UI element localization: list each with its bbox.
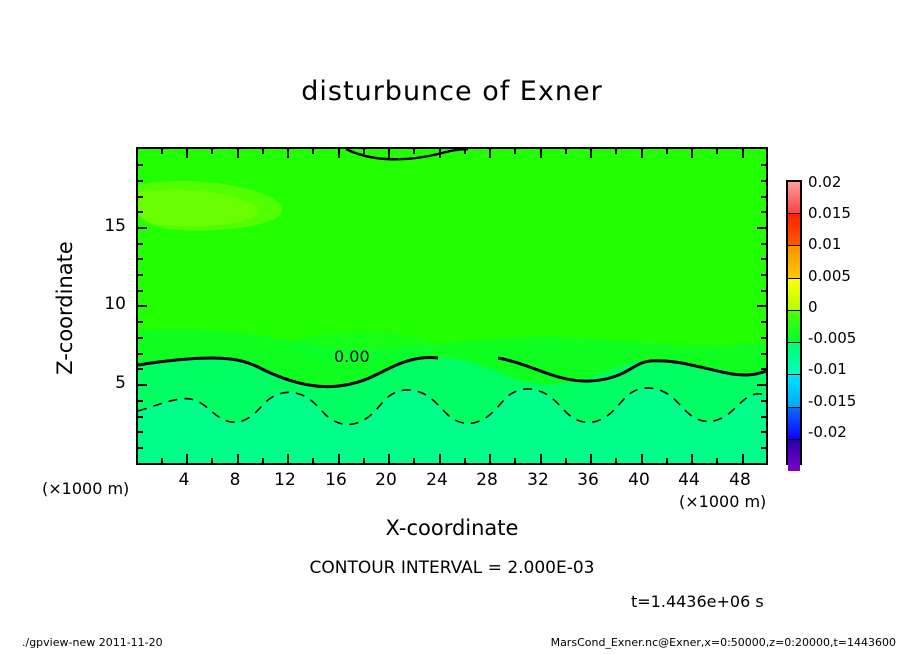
ytick-major bbox=[138, 227, 147, 229]
colorbar-band bbox=[788, 278, 800, 310]
ytick-minor bbox=[138, 211, 143, 213]
ytick-minor-right bbox=[761, 211, 766, 213]
xtick-label: 32 bbox=[518, 470, 558, 490]
xtick-major-top bbox=[540, 149, 542, 158]
colorbar-tick-label: 0 bbox=[808, 298, 818, 316]
xtick-minor bbox=[514, 458, 516, 463]
xtick-major bbox=[287, 454, 289, 463]
xtick-major-top bbox=[237, 149, 239, 158]
xtick-minor-top bbox=[464, 149, 466, 154]
ytick-minor bbox=[138, 431, 143, 433]
xtick-minor-top bbox=[615, 149, 617, 154]
ytick-minor-right bbox=[761, 321, 766, 323]
ytick-minor-right bbox=[761, 180, 766, 182]
xtick-major bbox=[590, 454, 592, 463]
ytick-minor-right bbox=[761, 416, 766, 418]
xtick-label: 40 bbox=[619, 470, 659, 490]
ytick-major-right bbox=[757, 305, 766, 307]
xtick-minor bbox=[312, 458, 314, 463]
time-annotation: t=1.4436e+06 s bbox=[631, 592, 764, 611]
xtick-minor-top bbox=[262, 149, 264, 154]
xtick-major bbox=[338, 454, 340, 463]
xtick-label: 24 bbox=[417, 470, 457, 490]
colorbar-band bbox=[788, 310, 800, 342]
xtick-minor bbox=[464, 458, 466, 463]
colorbar-band bbox=[788, 374, 800, 406]
ytick-minor-right bbox=[761, 337, 766, 339]
xtick-label: 20 bbox=[366, 470, 406, 490]
xtick-major bbox=[641, 454, 643, 463]
ytick-minor bbox=[138, 180, 143, 182]
ytick-minor bbox=[138, 196, 143, 198]
xtick-minor-top bbox=[514, 149, 516, 154]
xtick-minor bbox=[615, 458, 617, 463]
xtick-label: 8 bbox=[215, 470, 255, 490]
ytick-minor bbox=[138, 353, 143, 355]
x-axis-title: X-coordinate bbox=[136, 516, 768, 540]
ytick-label: 5 bbox=[86, 373, 126, 393]
xtick-major-top bbox=[186, 149, 188, 158]
ytick-minor-right bbox=[761, 353, 766, 355]
xtick-label: 28 bbox=[467, 470, 507, 490]
colorbar-tick-label: -0.01 bbox=[808, 360, 847, 378]
xtick-major bbox=[237, 454, 239, 463]
y-axis-unit: (×1000 m) bbox=[42, 479, 129, 498]
xtick-minor-top bbox=[211, 149, 213, 154]
xtick-major bbox=[742, 454, 744, 463]
xtick-major bbox=[540, 454, 542, 463]
xtick-major-top bbox=[338, 149, 340, 158]
colorbar-band bbox=[788, 407, 800, 439]
contour-value-label: 0.00 bbox=[334, 347, 370, 366]
colorbar-tick-label: -0.005 bbox=[808, 329, 856, 347]
xtick-major-top bbox=[388, 149, 390, 158]
xtick-minor-top bbox=[666, 149, 668, 154]
colorbar-tick-label: -0.02 bbox=[808, 423, 847, 441]
colorbar-band bbox=[788, 342, 800, 374]
ytick-major-right bbox=[757, 227, 766, 229]
xtick-minor bbox=[666, 458, 668, 463]
contour-field bbox=[138, 149, 766, 463]
ytick-minor bbox=[138, 368, 143, 370]
xtick-minor-top bbox=[413, 149, 415, 154]
xtick-minor bbox=[716, 458, 718, 463]
xtick-major-top bbox=[489, 149, 491, 158]
xtick-major-top bbox=[287, 149, 289, 158]
xtick-minor bbox=[161, 458, 163, 463]
xtick-minor-top bbox=[312, 149, 314, 154]
ytick-minor bbox=[138, 164, 143, 166]
ytick-minor bbox=[138, 337, 143, 339]
xtick-major bbox=[489, 454, 491, 463]
footer-command: ./gpview-new 2011-11-20 bbox=[22, 636, 163, 649]
xtick-minor-top bbox=[716, 149, 718, 154]
xtick-major-top bbox=[590, 149, 592, 158]
colorbar-band bbox=[788, 245, 800, 277]
colorbar-band bbox=[788, 182, 800, 213]
xtick-label: 48 bbox=[720, 470, 760, 490]
page-title: disturbunce of Exner bbox=[0, 76, 904, 107]
ytick-minor-right bbox=[761, 368, 766, 370]
ytick-minor bbox=[138, 416, 143, 418]
xtick-label: 36 bbox=[568, 470, 608, 490]
ytick-minor-right bbox=[761, 447, 766, 449]
ytick-minor bbox=[138, 274, 143, 276]
y-axis-title: Z-coordinate bbox=[53, 188, 77, 428]
xtick-minor-top bbox=[161, 149, 163, 154]
ytick-minor-right bbox=[761, 258, 766, 260]
xtick-label: 12 bbox=[265, 470, 305, 490]
contour-interval-note: CONTOUR INTERVAL = 2.000E-03 bbox=[0, 558, 904, 578]
xtick-label: 4 bbox=[164, 470, 204, 490]
ytick-label: 10 bbox=[86, 294, 126, 314]
xtick-major bbox=[439, 454, 441, 463]
colorbar-tick-label: 0.015 bbox=[808, 204, 851, 222]
ytick-major bbox=[138, 384, 147, 386]
ytick-minor bbox=[138, 258, 143, 260]
xtick-label: 44 bbox=[669, 470, 709, 490]
ytick-minor bbox=[138, 400, 143, 402]
colorbar-band bbox=[788, 213, 800, 245]
xtick-minor bbox=[363, 458, 365, 463]
colorbar-labels: 0.020.0150.010.0050-0.005-0.01-0.015-0.0… bbox=[808, 180, 904, 465]
contour-plot-area: 0.00 bbox=[136, 147, 768, 465]
ytick-minor-right bbox=[761, 290, 766, 292]
xtick-minor bbox=[413, 458, 415, 463]
xtick-major-top bbox=[641, 149, 643, 158]
footer-source: MarsCond_Exner.nc@Exner,x=0:50000,z=0:20… bbox=[551, 636, 896, 649]
xtick-minor-top bbox=[363, 149, 365, 154]
ytick-minor bbox=[138, 290, 143, 292]
ytick-minor-right bbox=[761, 400, 766, 402]
xtick-minor bbox=[211, 458, 213, 463]
colorbar-band bbox=[788, 439, 800, 471]
xtick-major bbox=[186, 454, 188, 463]
colorbar-tick-label: -0.015 bbox=[808, 392, 856, 410]
ytick-minor-right bbox=[761, 274, 766, 276]
ytick-minor-right bbox=[761, 164, 766, 166]
x-axis-unit: (×1000 m) bbox=[679, 492, 766, 511]
ytick-minor-right bbox=[761, 431, 766, 433]
ytick-label: 15 bbox=[86, 216, 126, 236]
xtick-label: 16 bbox=[316, 470, 356, 490]
xtick-minor-top bbox=[565, 149, 567, 154]
xtick-major-top bbox=[691, 149, 693, 158]
colorbar bbox=[786, 180, 802, 465]
ytick-major-right bbox=[757, 384, 766, 386]
xtick-minor bbox=[262, 458, 264, 463]
ytick-label-group: 5 10 15 bbox=[78, 0, 126, 654]
xtick-minor bbox=[565, 458, 567, 463]
ytick-minor bbox=[138, 447, 143, 449]
ytick-major bbox=[138, 305, 147, 307]
ytick-minor bbox=[138, 243, 143, 245]
ytick-minor-right bbox=[761, 243, 766, 245]
colorbar-tick-label: 0.02 bbox=[808, 173, 841, 191]
colorbar-tick-label: 0.01 bbox=[808, 235, 841, 253]
xtick-major bbox=[388, 454, 390, 463]
colorbar-tick-label: 0.005 bbox=[808, 267, 851, 285]
xtick-major-top bbox=[439, 149, 441, 158]
ytick-minor-right bbox=[761, 196, 766, 198]
xtick-major bbox=[691, 454, 693, 463]
xtick-major-top bbox=[742, 149, 744, 158]
ytick-minor bbox=[138, 321, 143, 323]
